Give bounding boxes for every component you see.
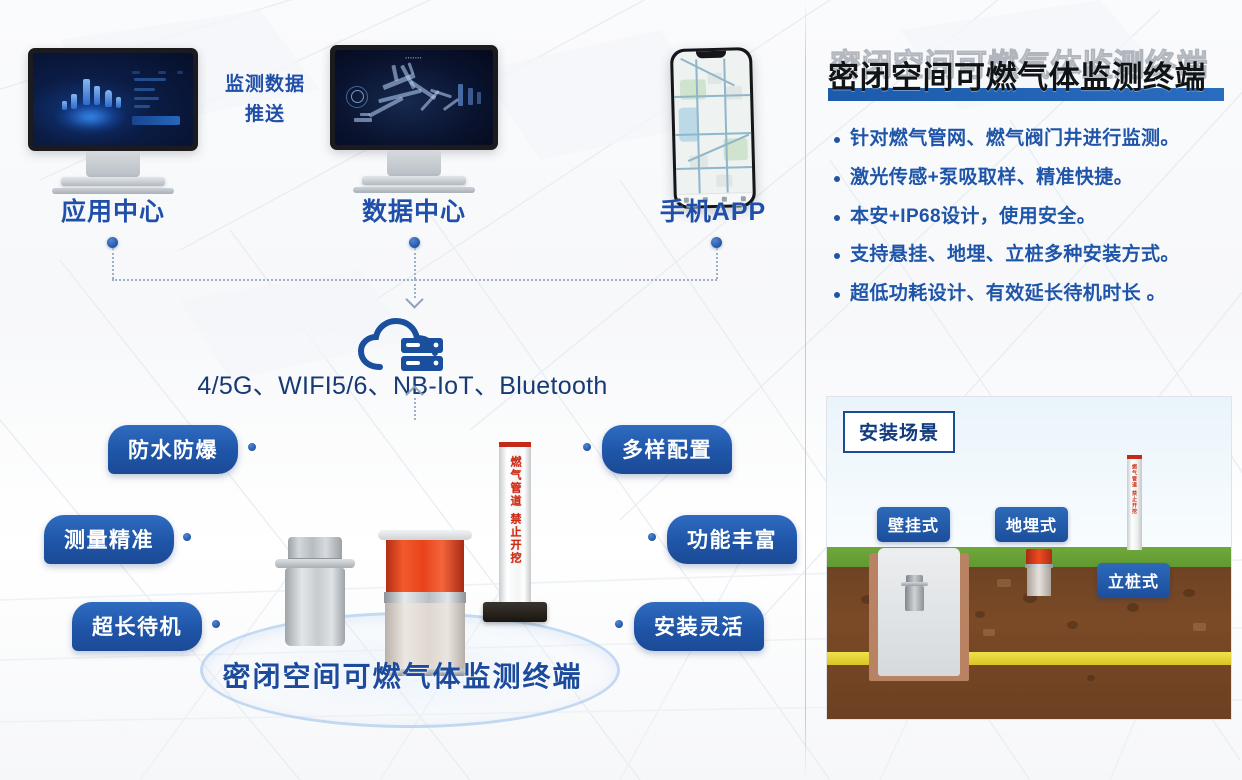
marker-pole-base <box>483 602 547 622</box>
monitor-neck <box>86 151 140 177</box>
device-mobile-app[interactable] <box>672 48 754 208</box>
feature-dot-long-standby <box>212 620 220 628</box>
phone-body <box>670 47 756 209</box>
bullet-text-4: 支持悬挂、地埋、立桩多种安装方式。 <box>850 244 1180 267</box>
bullet-item-3: 本安+IP68设计，使用安全。 <box>834 206 1234 229</box>
feature-pill-diverse-config[interactable]: 多样配置 <box>602 425 732 474</box>
bullet-item-4: 支持悬挂、地埋、立桩多种安装方式。 <box>834 244 1234 267</box>
scene-pit-interior <box>878 548 960 676</box>
product-caption: 密闭空间可燃气体监测终端 <box>0 655 805 695</box>
feature-pill-flexible-install[interactable]: 安装灵活 <box>634 602 764 651</box>
feature-dot-accurate-measurement <box>183 533 191 541</box>
dashboard-visual <box>33 53 193 146</box>
title-block: 密闭空间可燃气体监测终端 密闭空间可燃气体监测终端 <box>828 40 1228 110</box>
push-label-line1: 监测数据 <box>225 74 305 95</box>
city-header-text: ▪▪▪▪▪▪▪ <box>335 55 493 60</box>
terminal-top-rim <box>378 530 472 540</box>
monitor-bezel: ▪▪▪▪▪▪▪ <box>330 45 498 150</box>
connector-node-data-center <box>409 237 420 248</box>
bullet-dot-icon <box>834 253 840 259</box>
monitor-neck <box>387 150 441 176</box>
network-protocols-text: 4/5G、WIFI5/6、NB-IoT、Bluetooth <box>0 366 805 402</box>
feature-pill-rich-functions[interactable]: 功能丰富 <box>667 515 797 564</box>
feature-pill-long-standby[interactable]: 超长待机 <box>72 602 202 651</box>
connector-line-vertical-right <box>716 248 718 279</box>
feature-pill-accurate-measurement[interactable]: 测量精准 <box>44 515 174 564</box>
bullet-text-5: 超低功耗设计、有效延长待机时长 。 <box>850 283 1166 306</box>
monitor-screen-city: ▪▪▪▪▪▪▪ <box>335 50 493 145</box>
city-visual: ▪▪▪▪▪▪▪ <box>335 50 493 145</box>
feature-dot-rich-functions <box>648 533 656 541</box>
bullet-dot-icon <box>834 215 840 221</box>
scene-tag-wall-mounted[interactable]: 壁挂式 <box>877 507 950 542</box>
feature-dot-waterproof-explosionproof <box>248 443 256 451</box>
feature-bullet-list: 针对燃气管网、燃气阀门井进行监测。 激光传感+泵吸取样、精准快捷。 本安+IP6… <box>834 128 1234 322</box>
connector-node-mobile-app <box>711 237 722 248</box>
scene-tag-buried[interactable]: 地埋式 <box>995 507 1068 542</box>
connector-line-vertical-left <box>112 248 114 279</box>
phone-notch <box>696 51 726 59</box>
device-application-center[interactable] <box>28 48 198 194</box>
connector-line-vertical-center <box>414 248 416 279</box>
page-title: 密闭空间可燃气体监测终端 <box>828 52 1206 97</box>
terminal-metal-ring <box>384 592 466 603</box>
left-panel: 应用中心 ▪▪▪▪▪▪▪ <box>0 0 805 780</box>
marker-pole-text: 燃气管道 禁止开挖 <box>507 456 523 565</box>
scene-marker-pole: 燃气管道 禁止开挖 <box>1127 455 1142 550</box>
bullet-dot-icon <box>834 176 840 182</box>
bullet-dot-icon <box>834 292 840 298</box>
push-data-label: 监测数据 推送 <box>210 70 320 130</box>
monitor-bezel <box>28 48 198 151</box>
scene-title-badge: 安装场景 <box>843 411 955 453</box>
sensor-barrel <box>285 568 345 646</box>
chevron-down-icon <box>405 290 423 308</box>
connector-node-application-center <box>107 237 118 248</box>
product-white-marker-pole[interactable]: 燃气管道 禁止开挖 <box>483 442 547 622</box>
monitor-foot <box>362 176 466 185</box>
push-label-line2: 推送 <box>245 104 285 125</box>
sensor-flange <box>275 559 355 568</box>
bullet-text-3: 本安+IP68设计，使用安全。 <box>850 206 1096 229</box>
bullet-text-2: 激光传感+泵吸取样、精准快捷。 <box>850 167 1133 190</box>
feature-pill-waterproof-explosionproof[interactable]: 防水防爆 <box>108 425 238 474</box>
marker-pole-body: 燃气管道 禁止开挖 <box>499 442 531 602</box>
bullet-item-5: 超低功耗设计、有效延长待机时长 。 <box>834 283 1234 306</box>
feature-dot-diverse-config <box>583 443 591 451</box>
bullet-item-2: 激光传感+泵吸取样、精准快捷。 <box>834 167 1234 190</box>
monitor-screen-dashboard <box>33 53 193 146</box>
bullet-dot-icon <box>834 137 840 143</box>
phone-screen-map <box>673 50 753 206</box>
sensor-cap <box>288 537 342 559</box>
device-data-center[interactable]: ▪▪▪▪▪▪▪ <box>330 45 498 193</box>
scene-pole-text: 燃气管道 禁止开挖 <box>1131 464 1138 550</box>
monitor-foot <box>61 177 165 186</box>
scene-tag-pole-mounted[interactable]: 立桩式 <box>1097 563 1170 598</box>
scene-wall-sensor <box>901 575 928 611</box>
feature-dot-flexible-install <box>615 620 623 628</box>
right-panel: 密闭空间可燃气体监测终端 密闭空间可燃气体监测终端 针对燃气管网、燃气阀门井进行… <box>806 0 1242 780</box>
installation-scene: 安装场景 燃气管道 禁止开挖 壁挂式 地埋式 立桩式 <box>826 396 1232 720</box>
terminal-red-body <box>386 540 464 592</box>
scene-pole-body: 燃气管道 禁止开挖 <box>1127 455 1142 550</box>
bullet-item-1: 针对燃气管网、燃气阀门井进行监测。 <box>834 128 1234 151</box>
scene-buried-unit <box>1025 549 1053 596</box>
bullet-text-1: 针对燃气管网、燃气阀门井进行监测。 <box>850 128 1180 151</box>
product-grey-cylinder-sensor[interactable] <box>275 537 355 646</box>
